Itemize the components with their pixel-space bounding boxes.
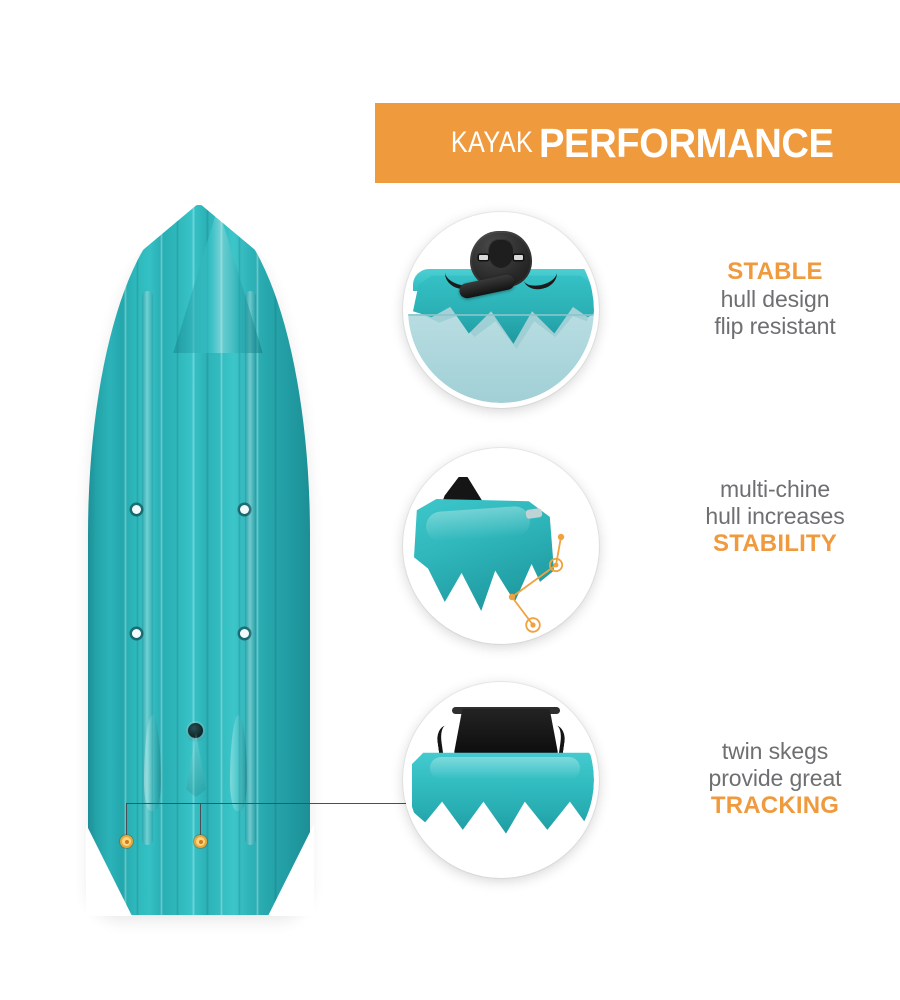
banner-prefix: KAYAK: [451, 126, 539, 160]
feature-text-stable: STABLE hull design flip resistant: [653, 258, 897, 341]
chine-annotation-polyline: [408, 453, 594, 639]
feature-line: TRACKING: [653, 792, 897, 820]
skeg-marker: [194, 835, 207, 848]
seat-pad: [488, 239, 514, 269]
hull-highlight: [430, 757, 580, 779]
kayak-bow: [88, 203, 310, 353]
feature-line: twin skegs: [653, 738, 897, 765]
feature-line: multi-chine: [653, 476, 897, 503]
bow-cone-highlight: [172, 207, 264, 353]
feature-line: STABLE: [653, 258, 897, 286]
feature-line: flip resistant: [653, 313, 897, 340]
feature-line: provide great: [653, 765, 897, 792]
skeg-leader-branch: [200, 803, 201, 839]
skeg-leader-line: [126, 803, 426, 804]
callout-tracking-image: [408, 687, 594, 873]
drain-plug: [188, 723, 203, 738]
seat-buckle: [514, 255, 523, 260]
deck-fitting: [240, 505, 249, 514]
waterline: [408, 314, 594, 316]
skeg-marker: [120, 835, 133, 848]
feature-text-stability: multi-chine hull increases STABILITY: [653, 476, 897, 559]
callout-stable-image: [408, 217, 594, 403]
feature-line: hull increases: [653, 503, 897, 530]
deck-fitting: [132, 505, 141, 514]
feature-line: STABILITY: [653, 530, 897, 558]
feature-text-tracking: twin skegs provide great TRACKING: [653, 738, 897, 821]
feature-line: hull design: [653, 286, 897, 313]
deck-fitting: [132, 629, 141, 638]
callout-circle-tracking: [403, 682, 599, 878]
callout-stability-image: [408, 453, 594, 639]
callout-circle-stability: [403, 448, 599, 644]
kayak-product-image: [70, 205, 330, 915]
callout-circle-stable: [403, 212, 599, 408]
skeg-leader-branch: [126, 803, 127, 839]
infographic-canvas: KAYAK PERFORMANCE: [0, 0, 900, 1000]
seat-buckle: [479, 255, 488, 260]
deck-fitting: [240, 629, 249, 638]
header-banner: KAYAK PERFORMANCE: [375, 103, 900, 183]
banner-title: PERFORMANCE: [539, 120, 834, 167]
